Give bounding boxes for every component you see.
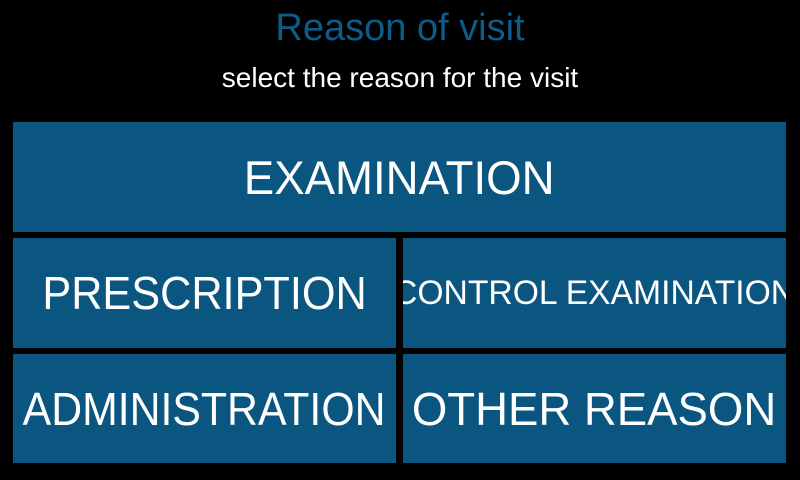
reason-button-grid: EXAMINATION PRESCRIPTION CONTROL EXAMINA… <box>13 122 786 463</box>
reason-button-administration[interactable]: ADMINISTRATION <box>13 354 396 463</box>
reason-button-control-examination-label: CONTROL EXAMINATION <box>403 276 786 310</box>
reason-of-visit-screen: Reason of visit select the reason for th… <box>0 0 800 480</box>
page-subtitle: select the reason for the visit <box>0 61 800 95</box>
reason-button-prescription-label: PRESCRIPTION <box>42 270 366 316</box>
reason-button-control-examination[interactable]: CONTROL EXAMINATION <box>403 238 786 348</box>
reason-button-administration-label: ADMINISTRATION <box>23 386 386 432</box>
reason-button-row-3: ADMINISTRATION OTHER REASON <box>13 354 786 463</box>
reason-button-other-reason[interactable]: OTHER REASON <box>403 354 786 463</box>
screen-header: Reason of visit select the reason for th… <box>0 0 800 118</box>
reason-button-row-1: EXAMINATION <box>13 122 786 232</box>
reason-button-prescription[interactable]: PRESCRIPTION <box>13 238 396 348</box>
reason-button-other-reason-label: OTHER REASON <box>412 386 776 432</box>
reason-button-row-2: PRESCRIPTION CONTROL EXAMINATION <box>13 238 786 348</box>
reason-button-examination-label: EXAMINATION <box>244 154 555 201</box>
page-title: Reason of visit <box>0 6 800 50</box>
reason-button-examination[interactable]: EXAMINATION <box>13 122 786 232</box>
